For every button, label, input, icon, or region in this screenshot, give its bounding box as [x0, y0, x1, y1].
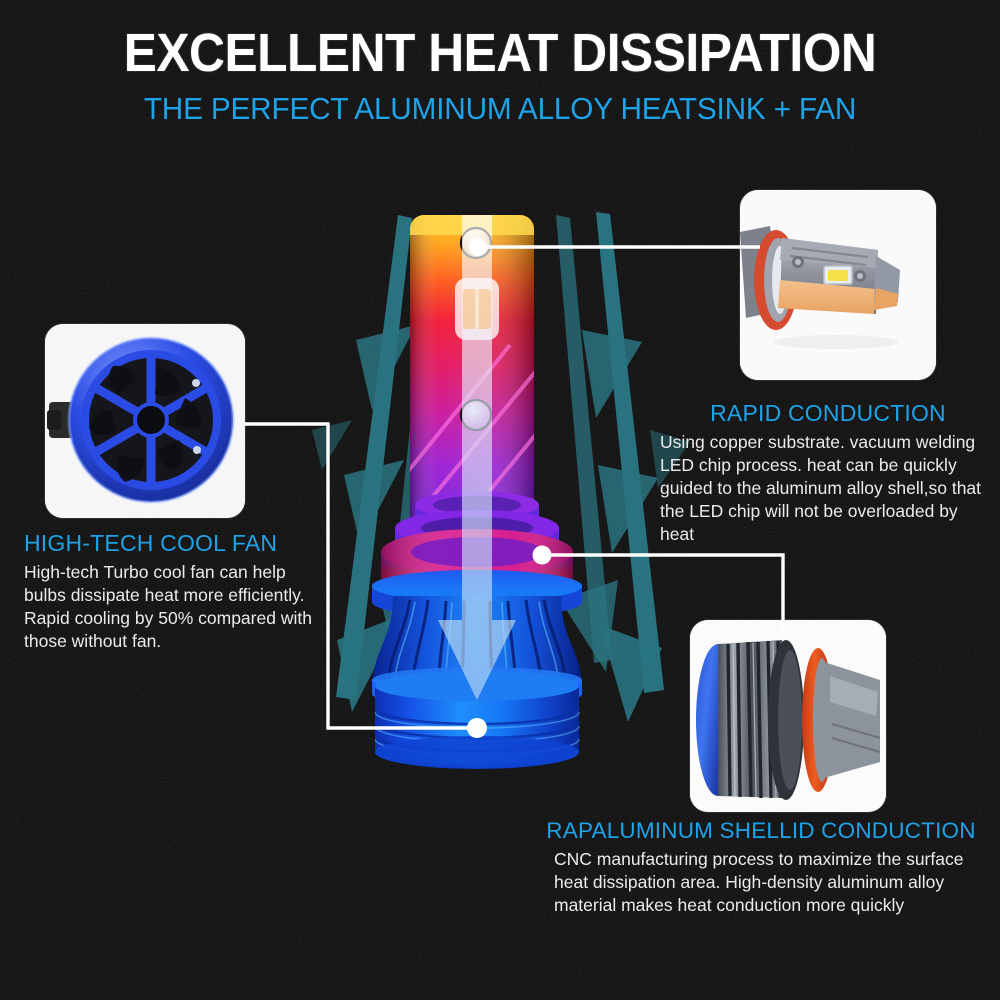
callout-body-rapid-conduction: Using copper substrate. vacuum welding L… — [660, 431, 996, 546]
header: EXCELLENT HEAT DISSIPATION THE PERFECT A… — [0, 0, 1000, 127]
callout-body-cool-fan: High-tech Turbo cool fan can help bulbs … — [24, 561, 324, 653]
callout-heading-rapid-conduction: RAPID CONDUCTION — [660, 400, 996, 427]
page-subtitle: THE PERFECT ALUMINUM ALLOY HEATSINK + FA… — [20, 91, 980, 127]
callout-heading-aluminum-shell: RAPALUMINUM SHELLID CONDUCTION — [526, 818, 996, 844]
led-bulb-chip-photo — [740, 190, 936, 380]
callout-rapid-conduction: RAPID CONDUCTION Using copper substrate.… — [660, 400, 996, 546]
callout-high-tech-cool-fan: HIGH-TECH COOL FAN High-tech Turbo cool … — [24, 530, 324, 653]
page-title: EXCELLENT HEAT DISSIPATION — [40, 26, 960, 81]
callout-body-aluminum-shell: CNC manufacturing process to maximize th… — [554, 848, 996, 917]
callout-aluminum-shell-conduction: RAPALUMINUM SHELLID CONDUCTION CNC manuf… — [526, 818, 996, 917]
infographic-canvas: EXCELLENT HEAT DISSIPATION THE PERFECT A… — [0, 0, 1000, 1000]
aluminum-heatsink-photo — [690, 620, 886, 812]
cooling-fan-photo — [45, 324, 245, 518]
callout-heading-cool-fan: HIGH-TECH COOL FAN — [24, 530, 324, 557]
